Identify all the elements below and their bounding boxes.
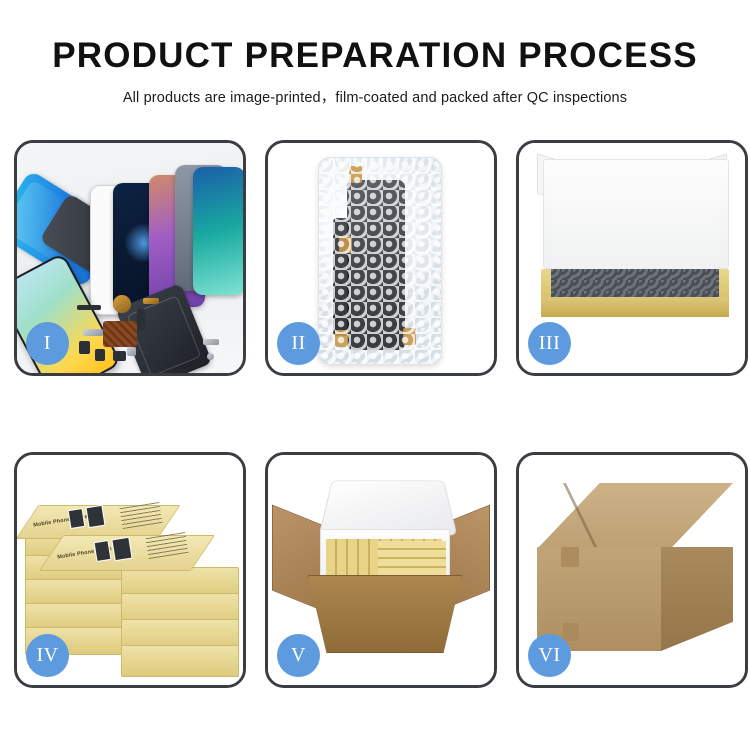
gold-flex-icon — [143, 298, 159, 304]
camera-module-icon — [113, 351, 126, 361]
label-window-icon — [85, 505, 105, 528]
process-step-2: II — [265, 140, 497, 376]
label-window-icon — [94, 540, 112, 562]
carton-side-icon — [661, 547, 733, 651]
process-grid: I II III — [14, 140, 750, 688]
carton-tape-icon — [561, 547, 579, 567]
battery-connector-icon — [77, 305, 101, 310]
header: PRODUCT PREPARATION PROCESS All products… — [0, 0, 750, 107]
tweezers-icon — [203, 339, 219, 345]
small-chip-icon — [79, 341, 90, 354]
carton-top-icon — [537, 483, 733, 549]
label-window-icon — [111, 537, 132, 562]
bubble-wrap-pouch-icon — [318, 157, 442, 365]
vibrator-icon — [95, 349, 105, 361]
carton-loading-image: V — [268, 455, 494, 685]
step-badge-2: II — [277, 322, 320, 365]
process-step-1: I — [14, 140, 246, 376]
bubble-texture-icon — [319, 158, 441, 364]
speaker-coil-icon — [113, 295, 131, 313]
carton-body-icon — [308, 575, 462, 653]
carton-tape-icon — [563, 623, 579, 641]
page-subtitle: All products are image-printed，film-coat… — [0, 86, 750, 107]
process-step-5: V — [265, 452, 497, 688]
page-title: PRODUCT PREPARATION PROCESS — [0, 38, 750, 73]
phone-teal-icon — [193, 167, 243, 295]
step-badge-4: IV — [26, 634, 69, 677]
box-front-panel-icon — [541, 297, 729, 317]
circuit-board-icon — [103, 321, 137, 347]
spare-part-box — [121, 645, 239, 677]
screw-plate-icon — [127, 347, 136, 356]
step-badge-1: I — [26, 322, 69, 365]
foam-pad-icon — [551, 187, 719, 273]
metal-bracket-icon — [83, 329, 103, 336]
bubble-wrap-contents-icon — [551, 269, 719, 297]
step-badge-3: III — [528, 322, 571, 365]
foam-boxing-image: III — [519, 143, 745, 373]
step-badge-5: V — [277, 634, 320, 677]
box-stacking-image: Mobile Phone Spare Parts Mobile Phone Sp… — [17, 455, 243, 685]
process-step-4: Mobile Phone Spare Parts Mobile Phone Sp… — [14, 452, 246, 688]
sealed-carton-image: VI — [519, 455, 745, 685]
parts-overview-image: I — [17, 143, 243, 373]
step-badge-6: VI — [528, 634, 571, 677]
bubble-wrapping-image: II — [268, 143, 494, 373]
flex-cable-icon — [137, 309, 145, 331]
label-window-icon — [68, 508, 86, 529]
screw-icon — [207, 353, 214, 360]
process-step-6: VI — [516, 452, 748, 688]
process-step-3: III — [516, 140, 748, 376]
foam-lid-icon — [319, 480, 458, 535]
